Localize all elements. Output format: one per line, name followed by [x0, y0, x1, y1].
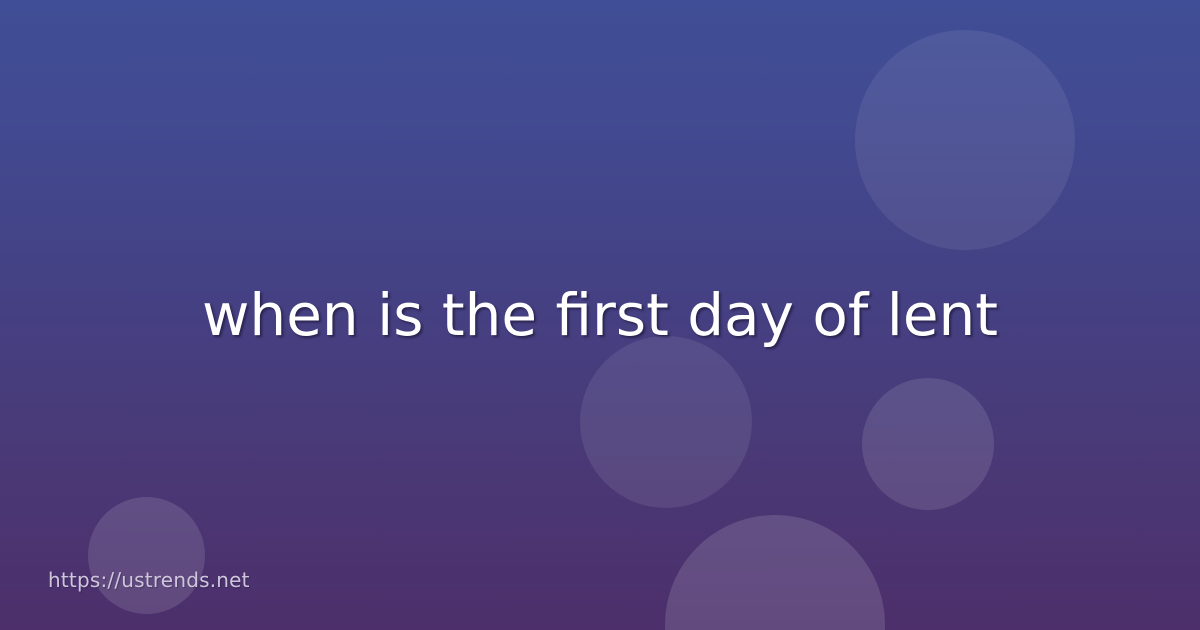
- page-title: when is the first day of lent: [202, 281, 998, 349]
- site-url-label: https://ustrends.net: [48, 568, 250, 592]
- social-share-card: when is the first day of lent https://us…: [0, 0, 1200, 630]
- headline-container: when is the first day of lent: [0, 0, 1200, 630]
